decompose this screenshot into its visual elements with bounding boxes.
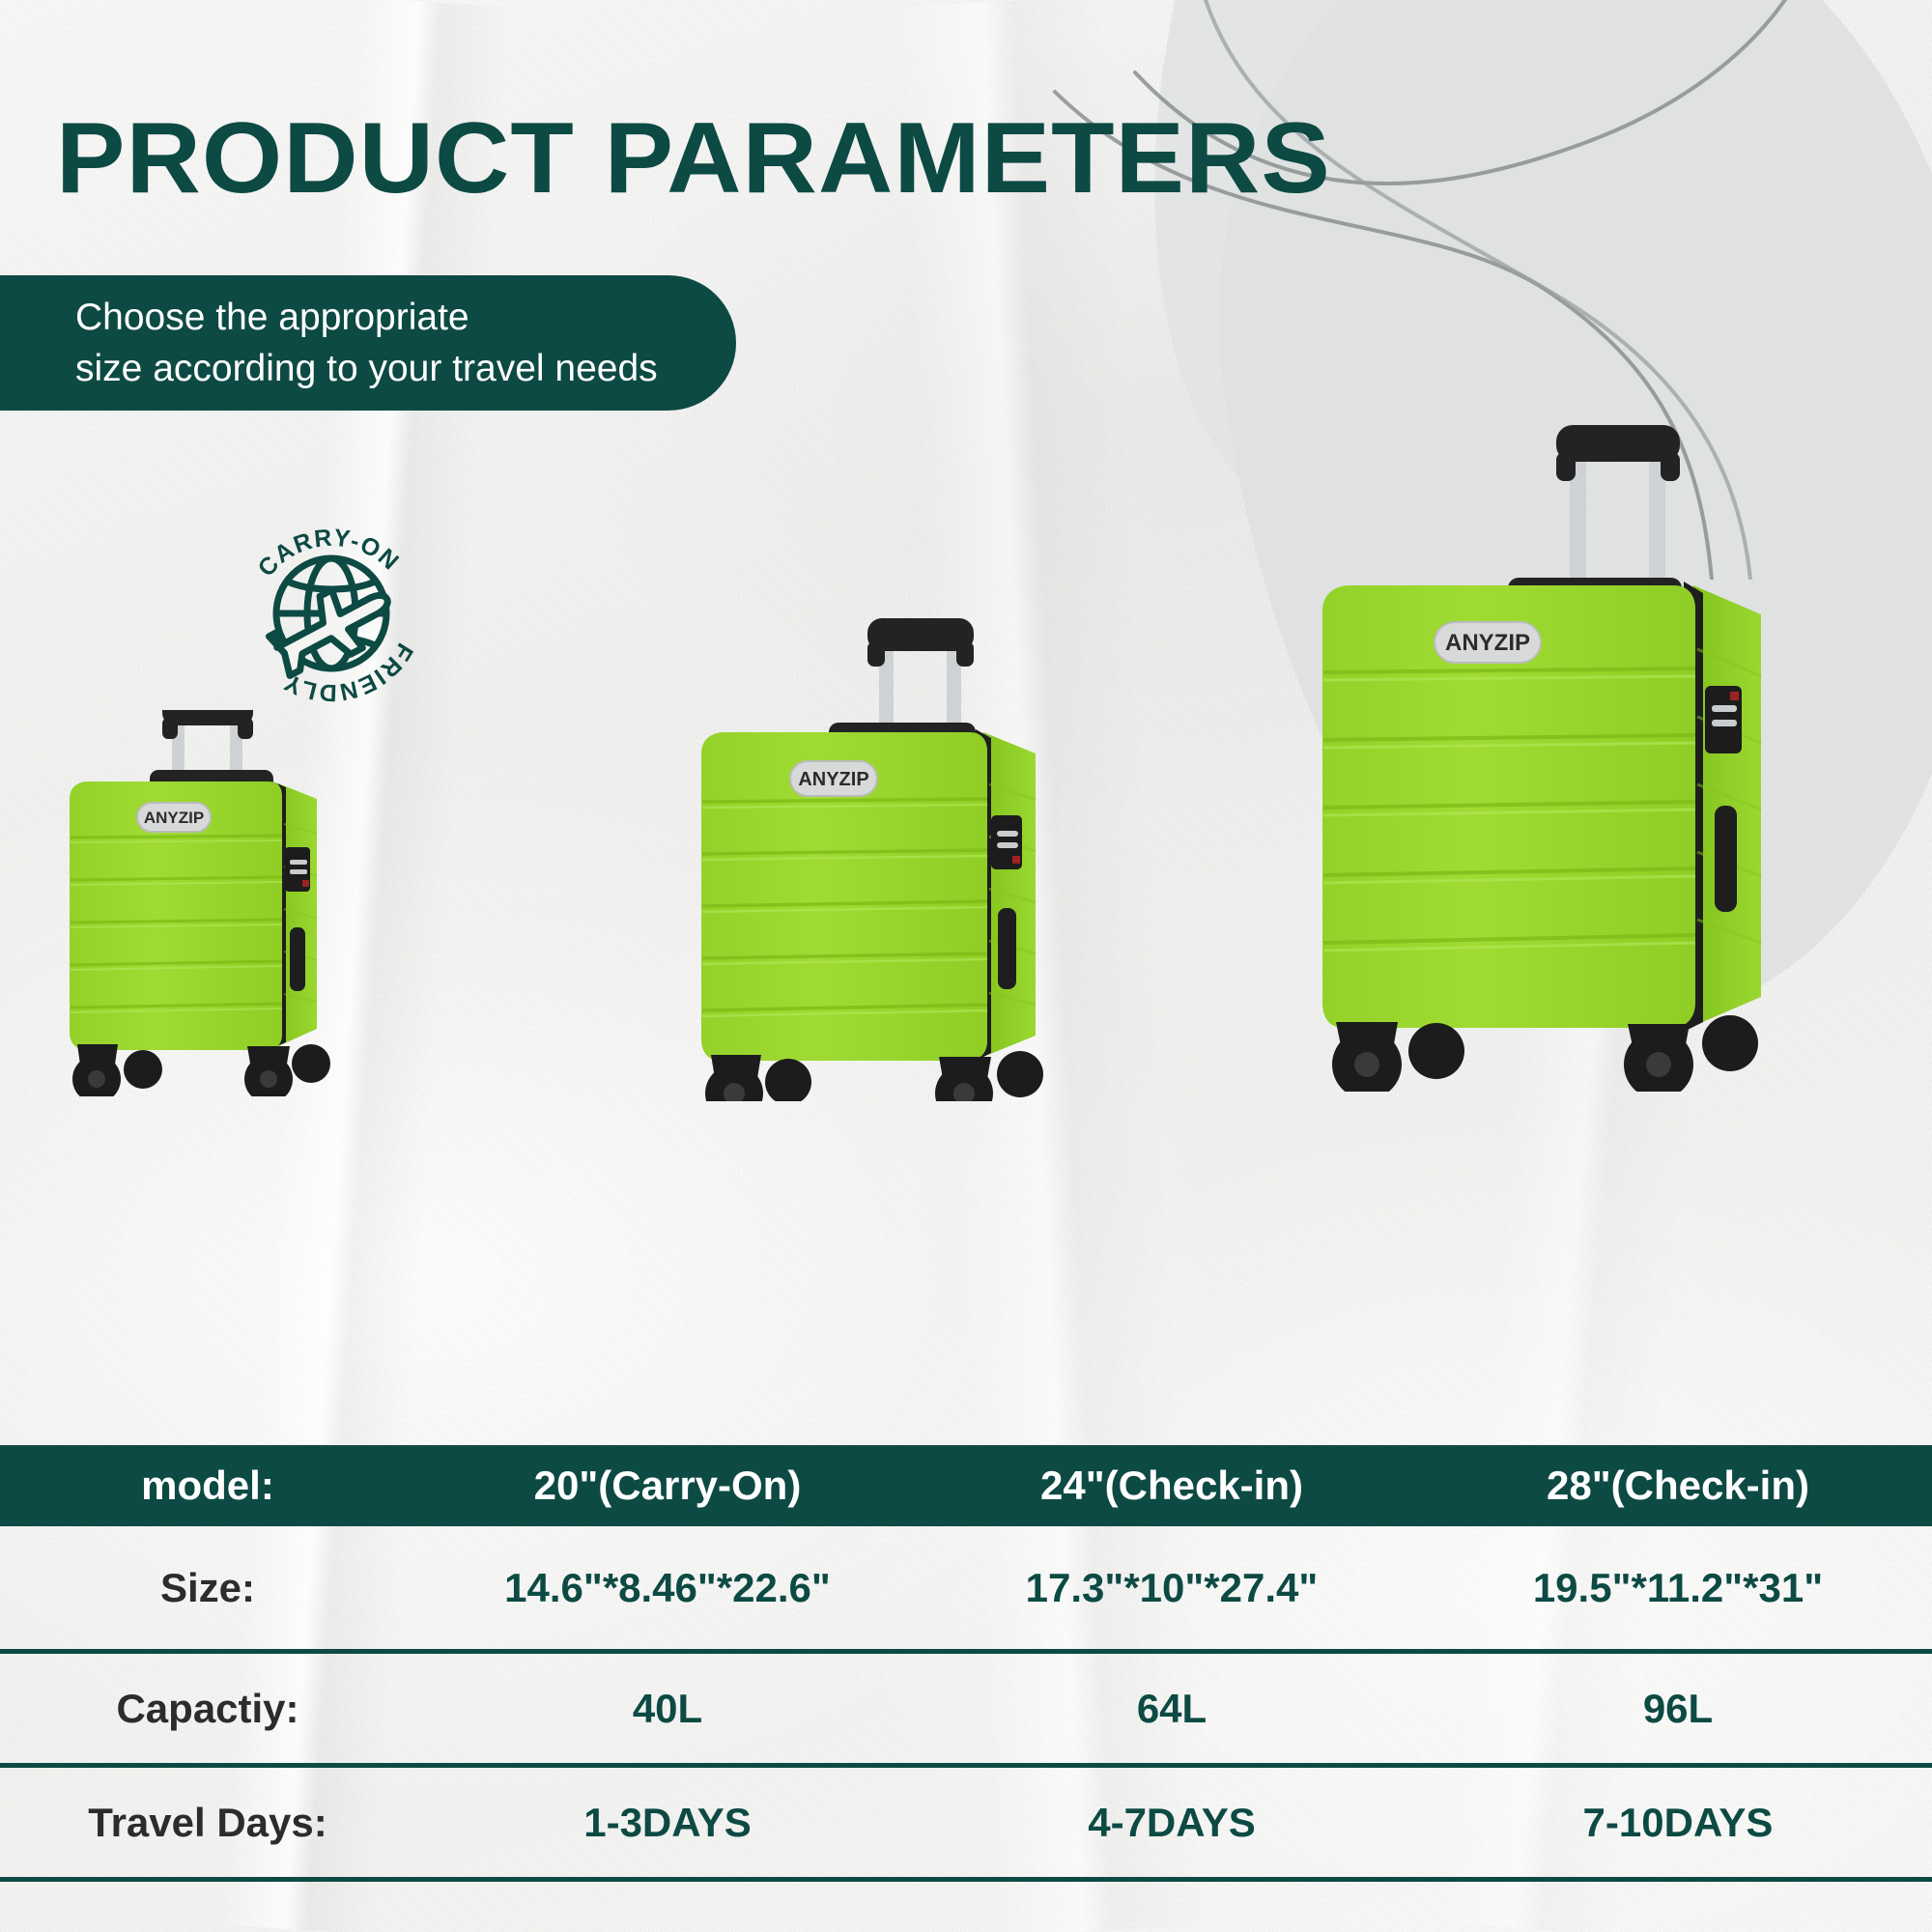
row-travel-days-value-2: 4-7DAYS (920, 1800, 1424, 1846)
carry-on-friendly-badge: CARRY-ON FRIENDLY (230, 507, 433, 710)
tsa-lock-icon (991, 815, 1022, 869)
row-size-value-2: 17.3"*10"*27.4" (920, 1565, 1424, 1611)
suitcase-20-inch: ANYZIP (58, 710, 377, 1096)
parameters-table: model: 20"(Carry-On) 24"(Check-in) 28"(C… (0, 1445, 1932, 1882)
badge-text-top: CARRY-ON (253, 525, 405, 582)
brand-label: ANYZIP (1445, 630, 1530, 656)
table-header-row: model: 20"(Carry-On) 24"(Check-in) 28"(C… (0, 1445, 1932, 1526)
spinner-wheels (72, 1044, 330, 1096)
tsa-lock-icon (285, 847, 310, 892)
table-row-size: Size: 14.6"*8.46"*22.6" 17.3"*10"*27.4" … (0, 1526, 1932, 1654)
row-label-capacity: Capactiy: (0, 1686, 415, 1732)
subtitle-banner: Choose the appropriate size according to… (0, 275, 736, 411)
table-header-col-1: 20"(Carry-On) (415, 1463, 920, 1509)
row-size-value-3: 19.5"*11.2"*31" (1424, 1565, 1932, 1611)
row-travel-days-value-3: 7-10DAYS (1424, 1800, 1932, 1846)
row-capacity-value-2: 64L (920, 1686, 1424, 1732)
table-header-col-3: 28"(Check-in) (1424, 1463, 1932, 1509)
infographic-page: PRODUCT PARAMETERS Choose the appropriat… (0, 0, 1932, 1932)
suitcase-28-inch: ANYZIP (1290, 425, 1831, 1092)
table-header-col-2: 24"(Check-in) (920, 1463, 1424, 1509)
table-header-label: model: (0, 1463, 415, 1509)
table-row-capacity: Capactiy: 40L 64L 96L (0, 1654, 1932, 1768)
table-row-travel-days: Travel Days: 1-3DAYS 4-7DAYS 7-10DAYS (0, 1768, 1932, 1882)
page-title: PRODUCT PARAMETERS (56, 108, 1331, 209)
svg-text:CARRY-ON: CARRY-ON (253, 525, 405, 582)
row-size-value-1: 14.6"*8.46"*22.6" (415, 1565, 920, 1611)
brand-label: ANYZIP (798, 769, 868, 790)
row-label-travel-days: Travel Days: (0, 1800, 415, 1846)
brand-plate: ANYZIP (1435, 622, 1541, 663)
row-travel-days-value-1: 1-3DAYS (415, 1800, 920, 1846)
suitcase-24-inch: ANYZIP (676, 618, 1082, 1101)
row-capacity-value-3: 96L (1424, 1686, 1932, 1732)
row-capacity-value-1: 40L (415, 1686, 920, 1732)
subtitle-text: Choose the appropriate size according to… (0, 292, 658, 394)
row-label-size: Size: (0, 1565, 415, 1611)
brand-plate: ANYZIP (137, 803, 211, 832)
brand-plate: ANYZIP (790, 761, 877, 796)
tsa-lock-icon (1705, 686, 1742, 753)
brand-label: ANYZIP (144, 809, 204, 827)
